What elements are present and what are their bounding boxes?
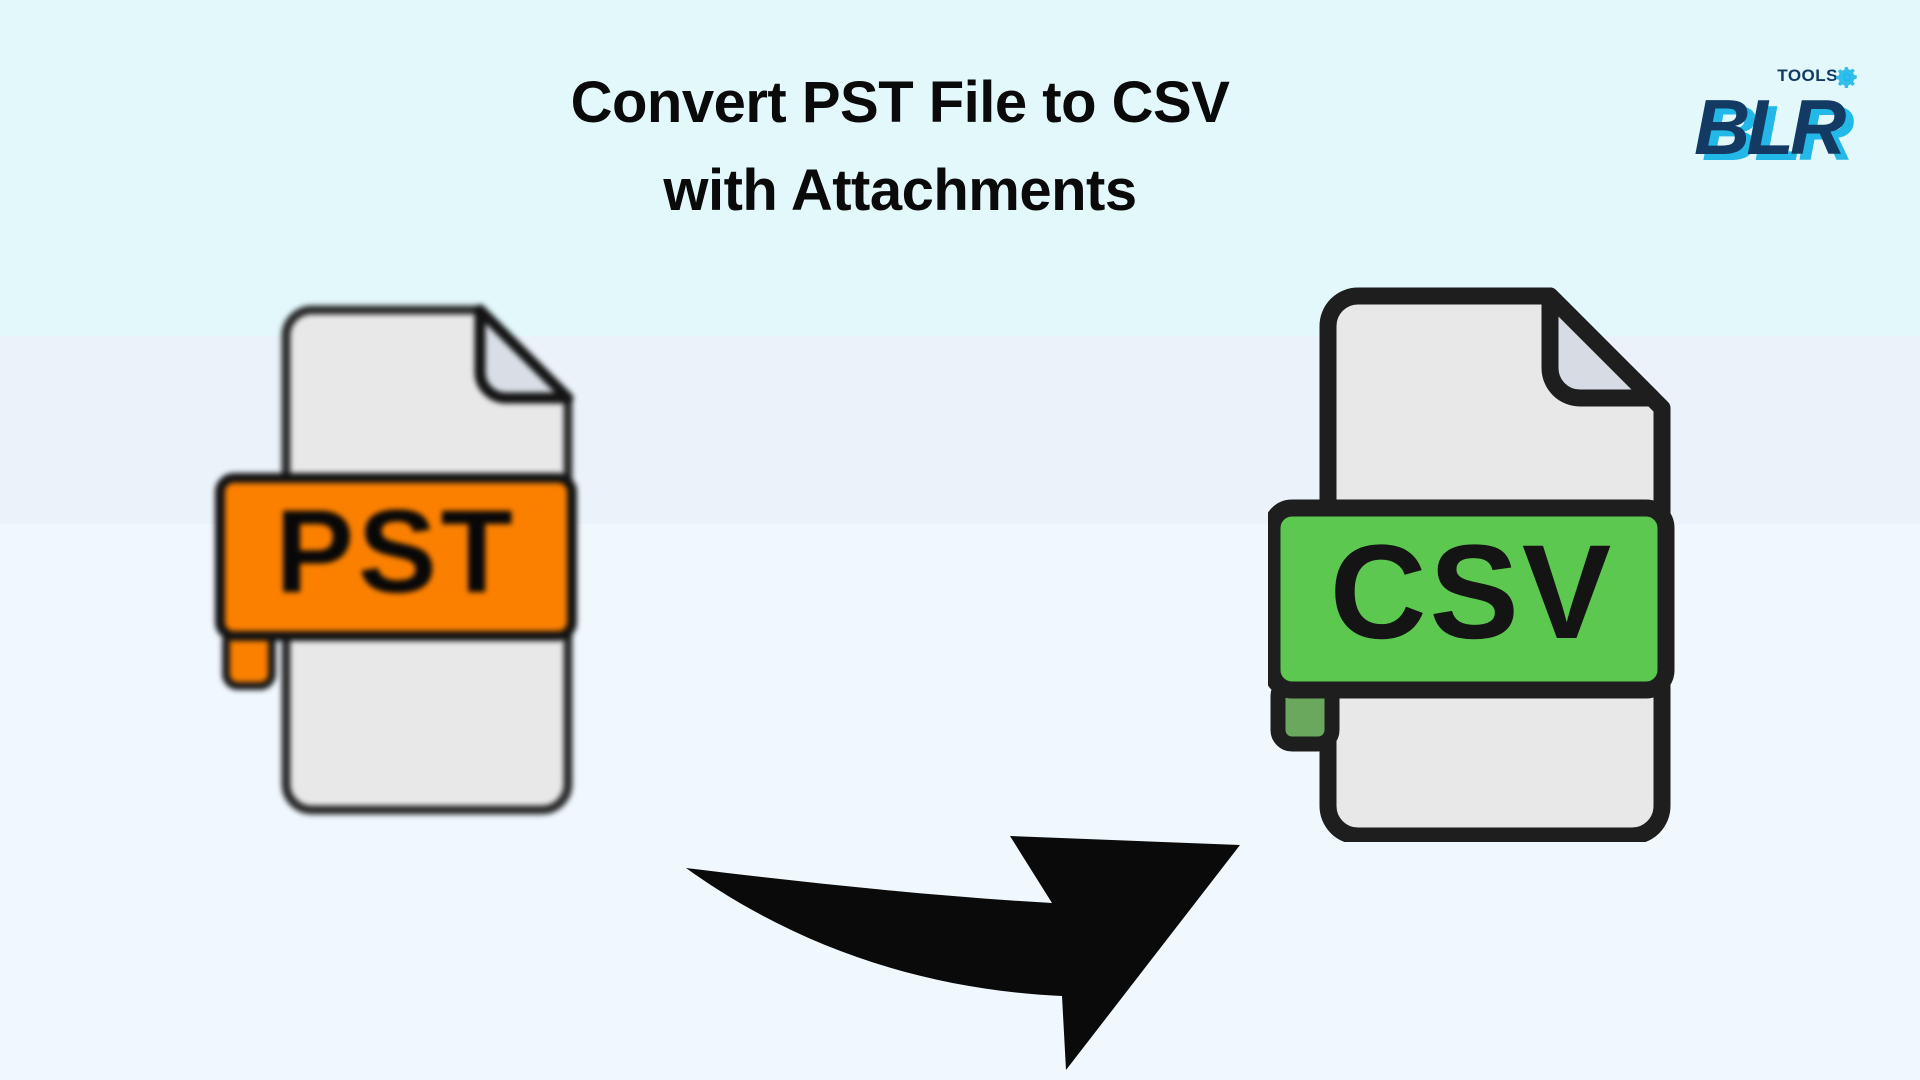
- curved-arrow-icon: [680, 800, 1320, 1070]
- page-title: Convert PST File to CSV with Attachments: [120, 58, 1680, 236]
- pst-file-icon: PST PST: [214, 300, 634, 820]
- page-title-line-2: with Attachments: [120, 146, 1680, 236]
- svg-text:CSV: CSV: [1330, 518, 1615, 667]
- logo-wordmark: BLR: [1694, 88, 1842, 166]
- blr-tools-logo[interactable]: TOOLS BLR BLR: [1690, 66, 1860, 186]
- page-title-line-1: Convert PST File to CSV: [120, 58, 1680, 148]
- banner-graphic: Convert PST File to CSV with Attachments…: [0, 0, 1920, 1080]
- svg-text:PST: PST: [275, 486, 517, 618]
- csv-file-icon: CSV CSV: [1268, 282, 1738, 842]
